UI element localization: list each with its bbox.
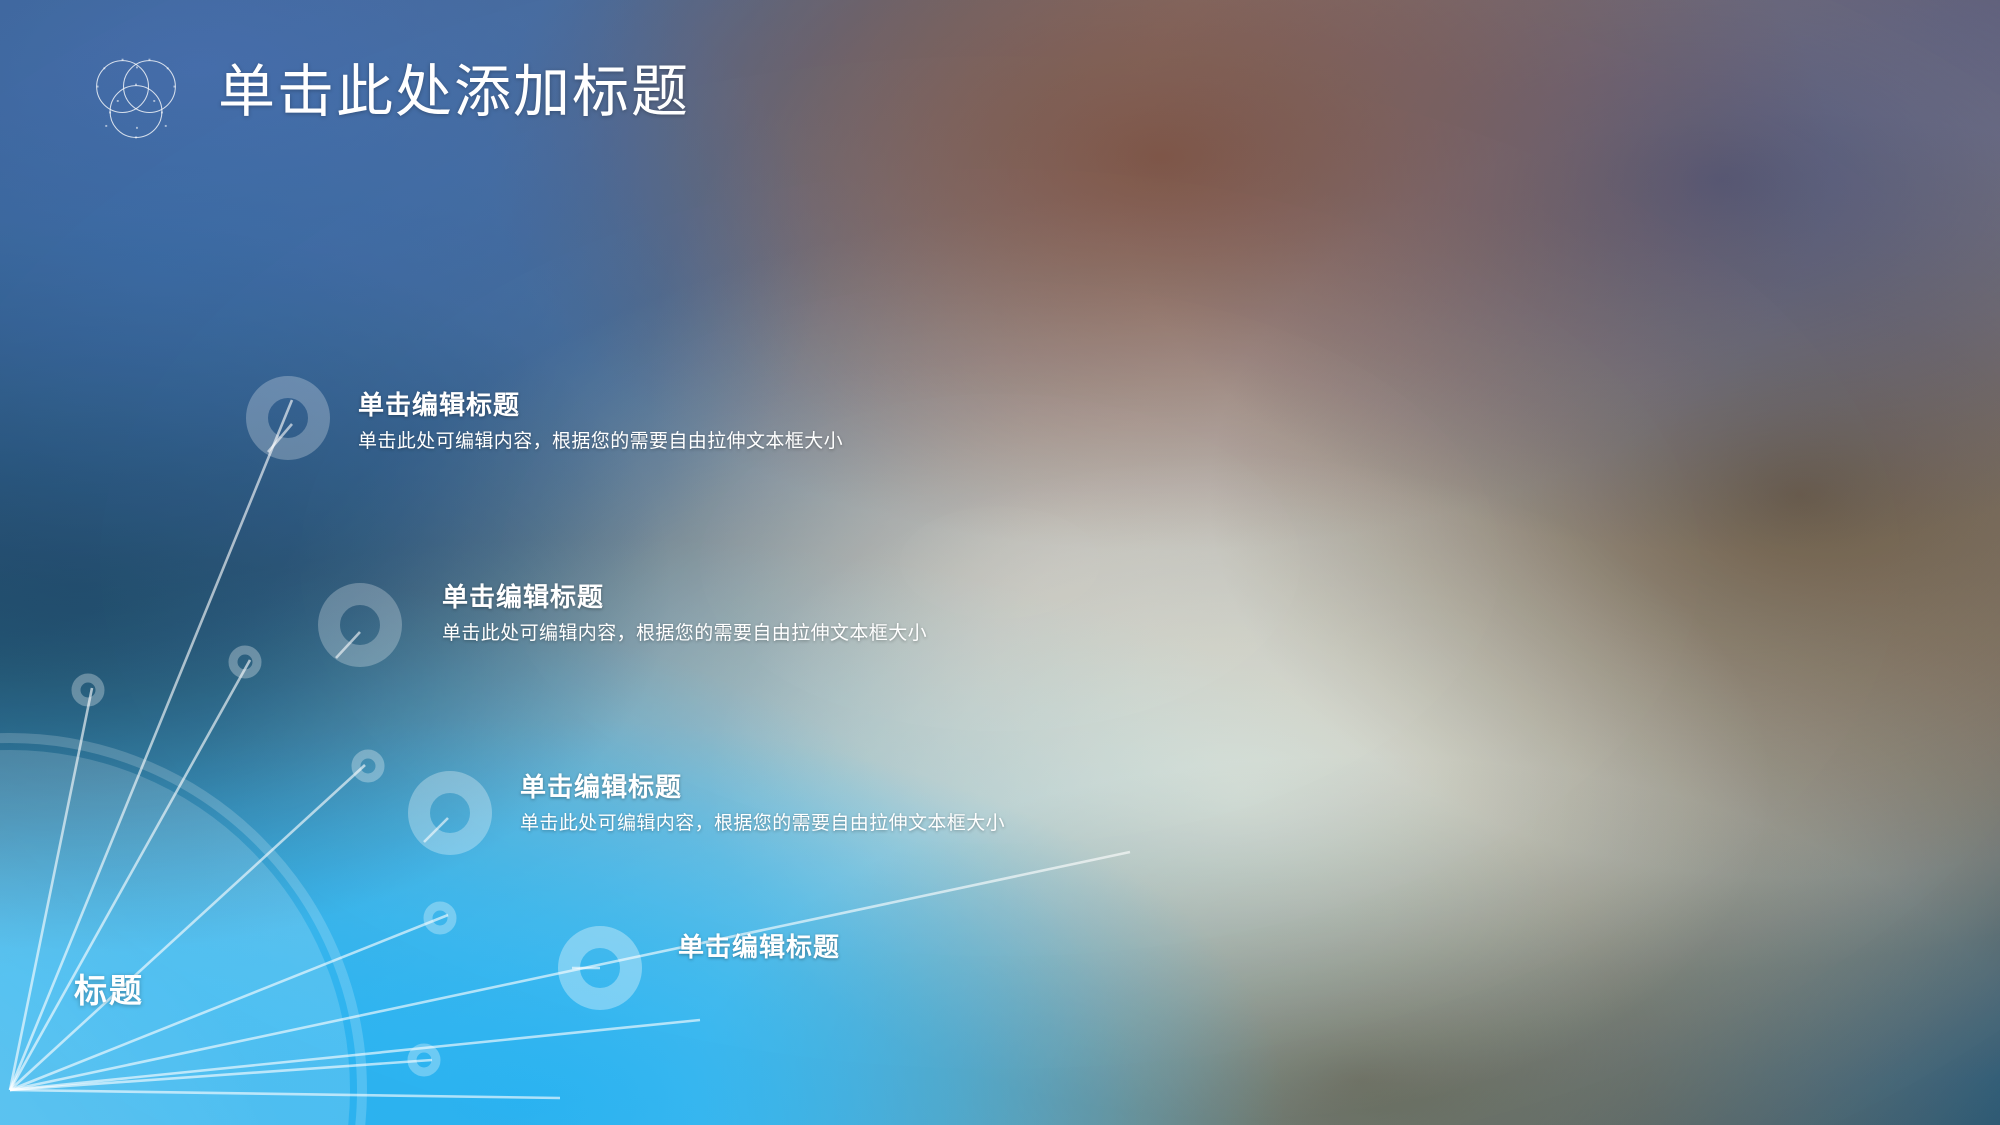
list-item[interactable]: 单击编辑标题	[678, 930, 840, 971]
item-body: 单击此处可编辑内容，根据您的需要自由拉伸文本框大小	[442, 621, 927, 648]
three-interlocking-circles-logo-icon	[88, 52, 184, 148]
radiating-fan-graphic	[0, 0, 2000, 1125]
page-title: 单击此处添加标题	[218, 58, 690, 126]
item-heading: 单击编辑标题	[520, 770, 1005, 805]
node-ring-icon	[356, 754, 380, 778]
item-body: 单击此处可编辑内容，根据您的需要自由拉伸文本框大小	[358, 429, 843, 456]
list-item[interactable]: 单击编辑标题 单击此处可编辑内容，根据您的需要自由拉伸文本框大小	[520, 770, 1005, 838]
item-heading: 单击编辑标题	[678, 930, 840, 965]
item-heading: 单击编辑标题	[442, 580, 927, 615]
node-ring-icon	[76, 678, 100, 702]
list-item[interactable]: 单击编辑标题 单击此处可编辑内容，根据您的需要自由拉伸文本框大小	[442, 580, 927, 648]
ring-marker-icon	[329, 594, 391, 656]
item-body: 单击此处可编辑内容，根据您的需要自由拉伸文本框大小	[520, 811, 1005, 838]
ring-marker-icon	[257, 387, 319, 449]
fan-quarter-disc	[0, 738, 362, 1125]
marker-connectors	[268, 424, 600, 968]
list-item[interactable]: 单击编辑标题 单击此处可编辑内容，根据您的需要自由拉伸文本框大小	[358, 388, 843, 456]
corner-label: 标题	[74, 964, 144, 1012]
ring-marker-icon	[419, 782, 481, 844]
item-heading: 单击编辑标题	[358, 388, 843, 423]
node-ring-icon	[233, 650, 257, 674]
presentation-slide: 单击此处添加标题 单击编辑标题 单击此处可编辑内容，根据您的需要自由拉伸文本框大…	[0, 0, 2000, 1125]
